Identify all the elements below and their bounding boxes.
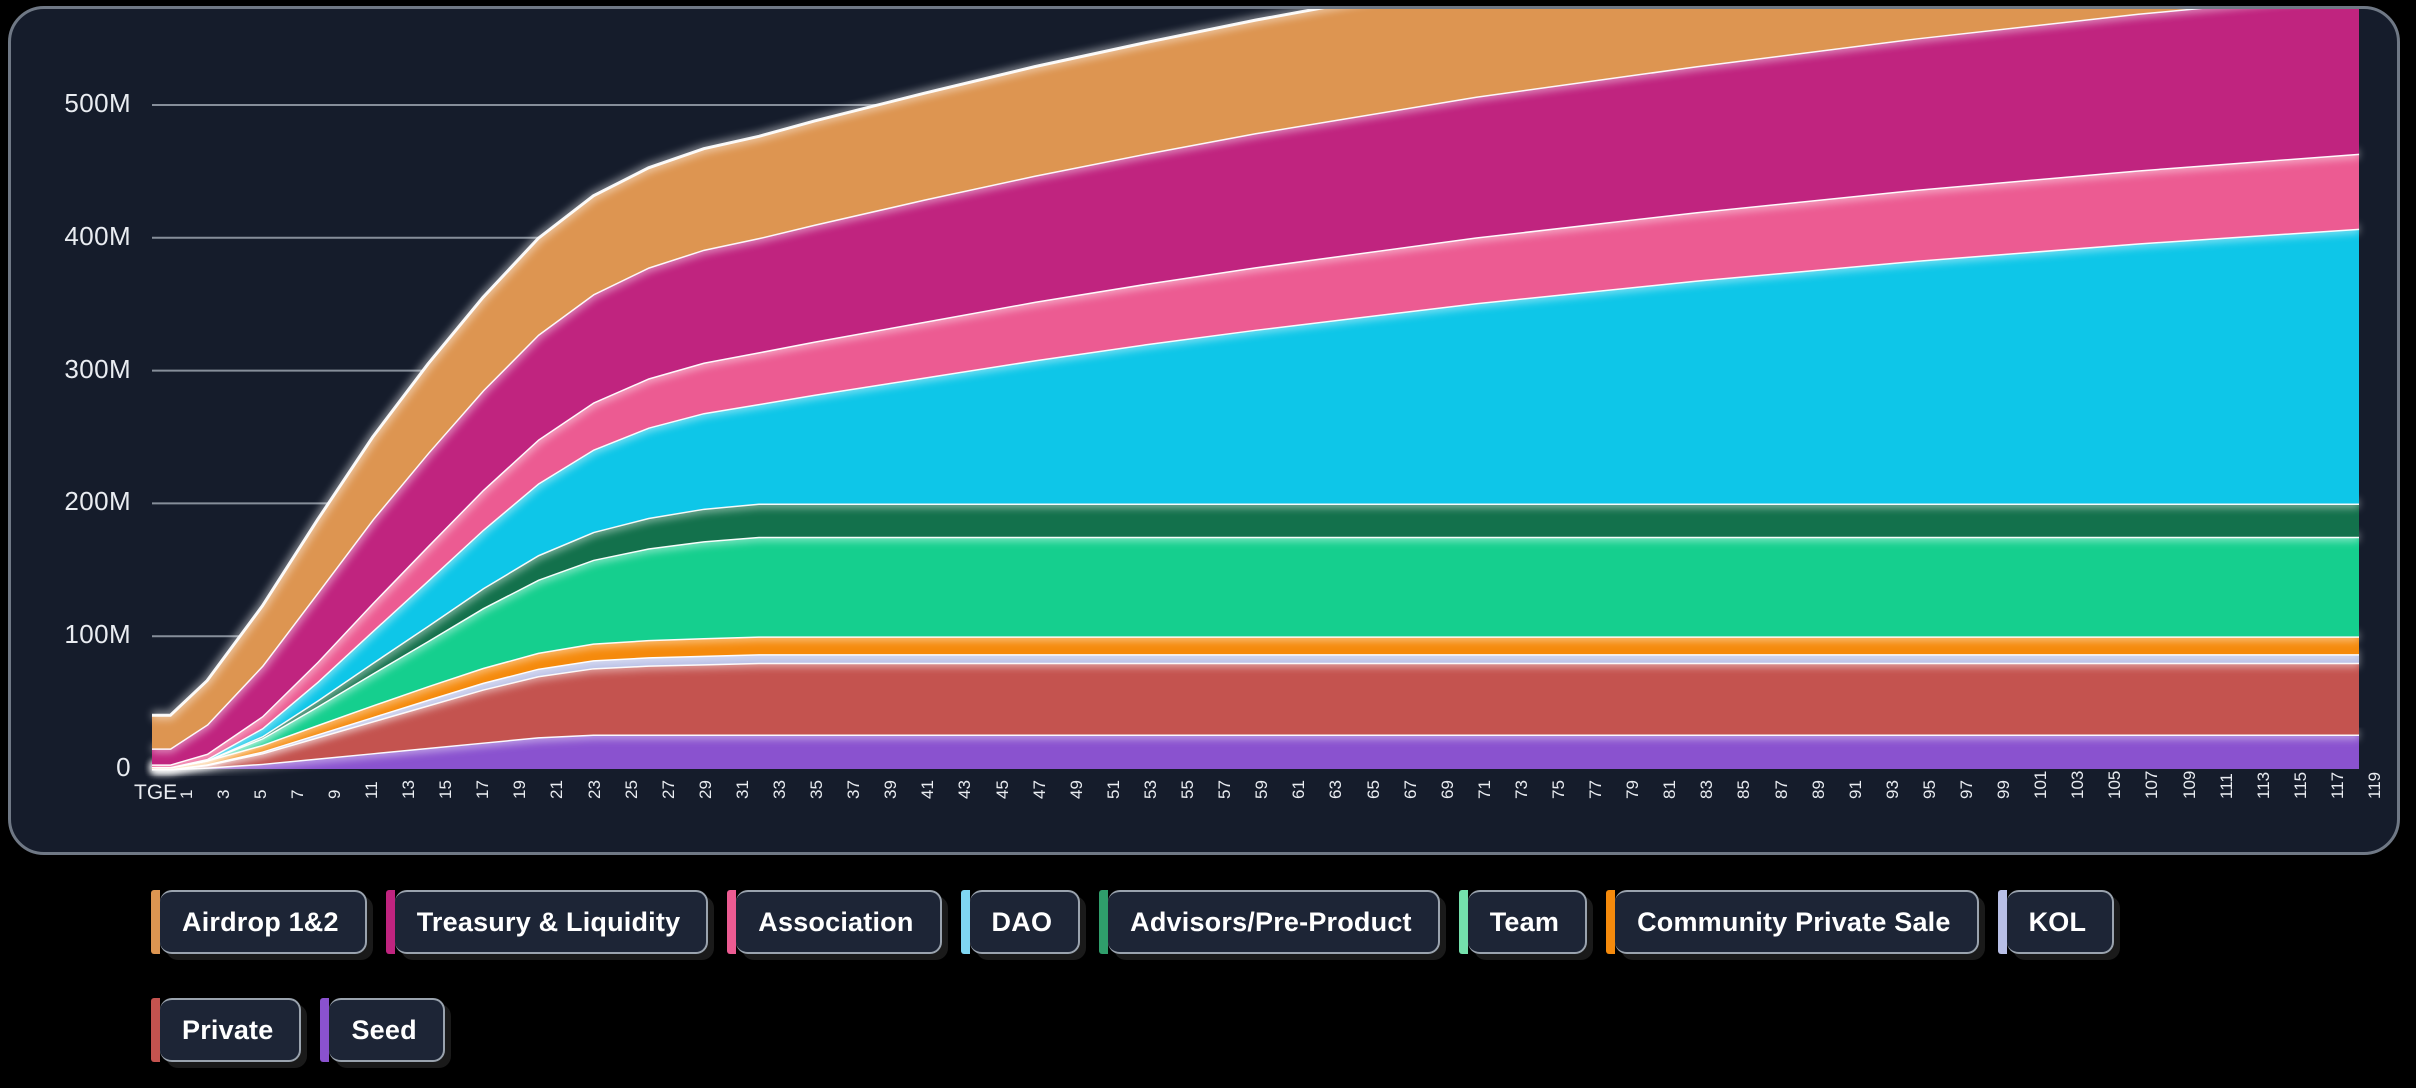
- x-axis-tick-label: 91: [1846, 780, 1866, 799]
- x-axis-tick-label: 89: [1809, 780, 1829, 799]
- x-axis-tick-label: 33: [770, 780, 790, 799]
- x-axis-tick-label: 115: [2291, 772, 2311, 799]
- y-axis-tick-label: 0: [31, 752, 131, 783]
- x-axis-tick-label: 59: [1252, 780, 1272, 799]
- legend-color-swatch: [1998, 890, 2007, 954]
- legend-color-swatch: [320, 998, 329, 1062]
- legend-item-label: DAO: [992, 907, 1053, 938]
- x-axis-tick-label: 73: [1512, 780, 1532, 799]
- x-axis-tick-label: 27: [659, 780, 679, 799]
- x-axis-tick-label: 101: [2031, 771, 2051, 799]
- legend-item-advisors-pre-product[interactable]: Advisors/Pre-Product: [1108, 890, 1440, 954]
- x-axis-tick-label: 15: [436, 780, 456, 799]
- x-axis-tick-label: 35: [807, 780, 827, 799]
- legend-item-team[interactable]: Team: [1468, 890, 1587, 954]
- x-axis-tick-label: 97: [1957, 780, 1977, 799]
- legend-item-label: Association: [758, 907, 913, 938]
- legend-item-label: Seed: [351, 1015, 416, 1046]
- legend-item-community-private-sale[interactable]: Community Private Sale: [1615, 890, 1979, 954]
- legend-item-label: Airdrop 1&2: [182, 907, 339, 938]
- legend-color-swatch: [1459, 890, 1468, 954]
- x-axis-tick-label: 87: [1772, 780, 1792, 799]
- x-axis-tick-label: 71: [1475, 780, 1495, 799]
- y-axis-tick-label: 500M: [31, 88, 131, 119]
- y-axis-tick-label: 200M: [31, 486, 131, 517]
- x-axis-tick-label: 23: [585, 780, 605, 799]
- legend-item-label: KOL: [2029, 907, 2087, 938]
- x-axis-tick-label: 93: [1883, 780, 1903, 799]
- legend-color-swatch: [727, 890, 736, 954]
- x-axis-tick-label: 47: [1030, 780, 1050, 799]
- legend-item-dao[interactable]: DAO: [970, 890, 1081, 954]
- x-axis-tick-label-tge: TGE: [134, 781, 177, 805]
- x-axis-tick-label: 7: [288, 790, 308, 799]
- x-axis-tick-label: 81: [1660, 780, 1680, 799]
- x-axis-tick-label: 17: [473, 780, 493, 799]
- y-axis-tick-label: 400M: [31, 221, 131, 252]
- x-axis-tick-label: 85: [1734, 780, 1754, 799]
- legend-item-label: Private: [182, 1015, 273, 1046]
- legend-item-label: Advisors/Pre-Product: [1130, 907, 1412, 938]
- x-axis-tick-label: 67: [1401, 780, 1421, 799]
- x-axis-tick-label: 119: [2365, 772, 2385, 799]
- legend-item-seed[interactable]: Seed: [329, 998, 444, 1062]
- x-axis-tick-label: 99: [1994, 780, 2014, 799]
- x-axis-tick-label: 43: [955, 780, 975, 799]
- legend-item-kol[interactable]: KOL: [2007, 890, 2115, 954]
- x-axis-tick-label: 53: [1141, 780, 1161, 799]
- legend-color-swatch: [151, 998, 160, 1062]
- x-axis-tick-label: 9: [325, 790, 345, 799]
- x-axis-tick-label: 51: [1104, 780, 1124, 799]
- x-axis-tick-label: 21: [547, 780, 567, 799]
- vesting-chart-page: 0100M200M300M400M500M TGE135791113151719…: [0, 0, 2416, 1088]
- x-axis-tick-label: 31: [733, 780, 753, 799]
- x-axis-tick-label: 113: [2254, 772, 2274, 799]
- x-axis-tick-label: 79: [1623, 780, 1643, 799]
- x-axis-tick-label: 57: [1215, 780, 1235, 799]
- x-axis-tick-label: 109: [2180, 771, 2200, 799]
- x-axis-tick-label: 39: [881, 780, 901, 799]
- legend-color-swatch: [386, 890, 395, 954]
- legend-item-airdrop-1-2[interactable]: Airdrop 1&2: [160, 890, 367, 954]
- legend-item-private[interactable]: Private: [160, 998, 301, 1062]
- x-axis-tick-label: 45: [993, 780, 1013, 799]
- x-axis-tick-label: 117: [2328, 772, 2348, 799]
- x-axis-tick-label: 25: [622, 780, 642, 799]
- x-axis-tick-label: 77: [1586, 780, 1606, 799]
- x-axis-tick-label: 107: [2142, 771, 2162, 799]
- x-axis-tick-label: 11: [362, 781, 382, 799]
- x-axis-tick-label: 19: [510, 780, 530, 799]
- legend: Airdrop 1&2Treasury & LiquidityAssociati…: [160, 890, 2410, 1062]
- x-axis-tick-label: 41: [918, 780, 938, 799]
- x-axis-tick-label: 83: [1697, 780, 1717, 799]
- x-axis-tick-label: 63: [1326, 780, 1346, 799]
- x-axis-tick-label: 105: [2105, 771, 2125, 799]
- x-axis-tick-label: 95: [1920, 780, 1940, 799]
- stacked-area-svg: [11, 9, 2400, 855]
- legend-item-label: Treasury & Liquidity: [417, 907, 681, 938]
- x-axis-tick-label: 65: [1364, 780, 1384, 799]
- x-axis-tick-label: 13: [399, 780, 419, 799]
- x-axis-tick-label: 29: [696, 780, 716, 799]
- legend-item-label: Community Private Sale: [1637, 907, 1951, 938]
- x-axis-tick-label: 49: [1067, 780, 1087, 799]
- legend-item-label: Team: [1490, 907, 1559, 938]
- x-axis-tick-label: 1: [177, 790, 197, 799]
- x-axis-tick-label: 69: [1438, 780, 1458, 799]
- legend-color-swatch: [961, 890, 970, 954]
- x-axis-tick-label: 5: [251, 790, 271, 799]
- legend-item-treasury-liquidity[interactable]: Treasury & Liquidity: [395, 890, 709, 954]
- y-axis-tick-label: 300M: [31, 354, 131, 385]
- plot-area: 0100M200M300M400M500M TGE135791113151719…: [11, 9, 2397, 852]
- legend-color-swatch: [1099, 890, 1108, 954]
- legend-item-association[interactable]: Association: [736, 890, 941, 954]
- x-axis-tick-label: 61: [1289, 780, 1309, 799]
- x-axis-tick-label: 37: [844, 780, 864, 799]
- x-axis-tick-label: 55: [1178, 780, 1198, 799]
- x-axis-tick-label: 3: [214, 790, 234, 799]
- vesting-chart-card: 0100M200M300M400M500M TGE135791113151719…: [8, 6, 2400, 855]
- x-axis-tick-label: 103: [2068, 771, 2088, 799]
- y-axis-tick-label: 100M: [31, 619, 131, 650]
- legend-color-swatch: [151, 890, 160, 954]
- legend-color-swatch: [1606, 890, 1615, 954]
- x-axis-tick-label: 75: [1549, 780, 1569, 799]
- x-axis-tick-label: 111: [2217, 773, 2237, 799]
